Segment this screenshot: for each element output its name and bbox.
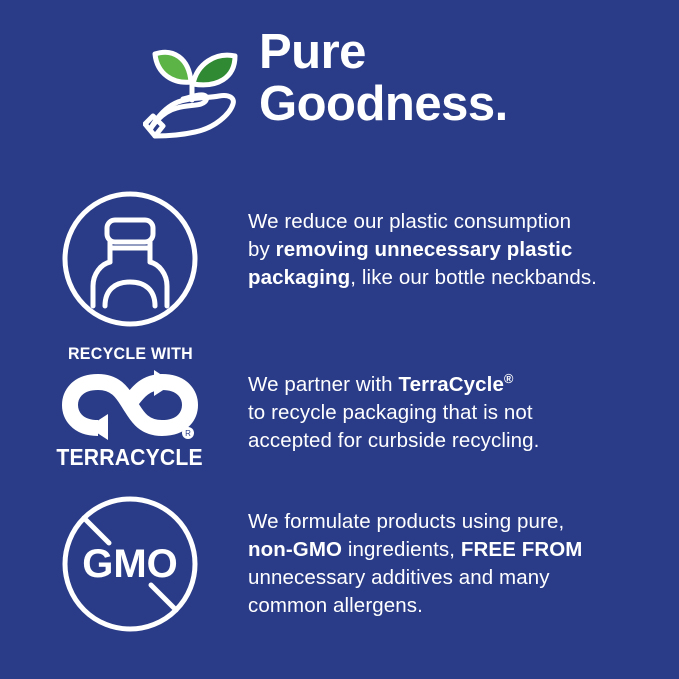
terracycle-top-label: RECYCLE WITH xyxy=(67,345,192,363)
feature-text-gmo: We formulate products using pure,non-GMO… xyxy=(248,495,679,620)
text-run: to recycle packaging that is not xyxy=(248,401,533,424)
text-line: non-GMO ingredients, FREE FROM xyxy=(248,536,679,564)
text-run-emphasis: packaging xyxy=(248,266,350,289)
bottle-neckband-circle-icon xyxy=(61,190,199,328)
text-run: We formulate products using pure, xyxy=(248,510,564,533)
text-line: to recycle packaging that is not xyxy=(248,399,679,427)
feature-text-terracycle: We partner with TerraCycle®to recycle pa… xyxy=(248,345,679,455)
text-run: unnecessary additives and many xyxy=(248,566,550,589)
terracycle-logo: RECYCLE WITH R TERRACYCLE xyxy=(62,345,198,469)
feature-text-plastic: We reduce our plastic consumptionby remo… xyxy=(248,190,679,292)
icon-cell: GMO xyxy=(0,495,248,633)
text-run-emphasis: FREE FROM xyxy=(461,538,583,561)
text-run: We reduce our plastic consumption xyxy=(248,210,571,233)
text-line: We formulate products using pure, xyxy=(248,508,679,536)
text-run-emphasis: removing unnecessary plastic xyxy=(276,238,573,261)
text-run-emphasis: ® xyxy=(504,371,513,386)
text-run: by xyxy=(248,238,276,261)
text-line: accepted for curbside recycling. xyxy=(248,427,679,455)
text-run: accepted for curbside recycling. xyxy=(248,429,539,452)
text-run-emphasis: TerraCycle xyxy=(398,373,503,396)
no-gmo-circle-icon: GMO xyxy=(61,495,199,633)
text-line: We reduce our plastic consumption xyxy=(248,208,679,236)
text-line: packaging, like our bottle neckbands. xyxy=(248,264,679,292)
recycle-infinity-loop-icon: R xyxy=(62,366,198,444)
text-run: ingredients, xyxy=(342,538,461,561)
text-line: We partner with TerraCycle® xyxy=(248,365,679,399)
terracycle-bottom-label: TERRACYCLE xyxy=(57,445,203,469)
feature-row-terracycle: RECYCLE WITH R TERRACYCLE xyxy=(0,345,679,469)
text-line: common allergens. xyxy=(248,592,679,620)
text-line: by removing unnecessary plastic xyxy=(248,236,679,264)
registered-mark-glyph: R xyxy=(185,429,191,438)
text-run-emphasis: non-GMO xyxy=(248,538,342,561)
hand-holding-sprout-icon xyxy=(143,32,251,144)
feature-row-gmo: GMO We formulate products using pure,non… xyxy=(0,495,679,633)
feature-row-plastic: We reduce our plastic consumptionby remo… xyxy=(0,190,679,328)
page-title: Pure Goodness. xyxy=(259,24,508,130)
text-line: unnecessary additives and many xyxy=(248,564,679,592)
header: Pure Goodness. xyxy=(0,24,679,154)
text-run: We partner with xyxy=(248,373,398,396)
icon-cell xyxy=(0,190,248,328)
icon-cell: RECYCLE WITH R TERRACYCLE xyxy=(0,345,248,469)
gmo-wordmark: GMO xyxy=(82,542,178,586)
text-run: common allergens. xyxy=(248,594,423,617)
poster-canvas: Pure Goodness. We reduc xyxy=(0,0,679,679)
text-run: , like our bottle neckbands. xyxy=(350,266,597,289)
